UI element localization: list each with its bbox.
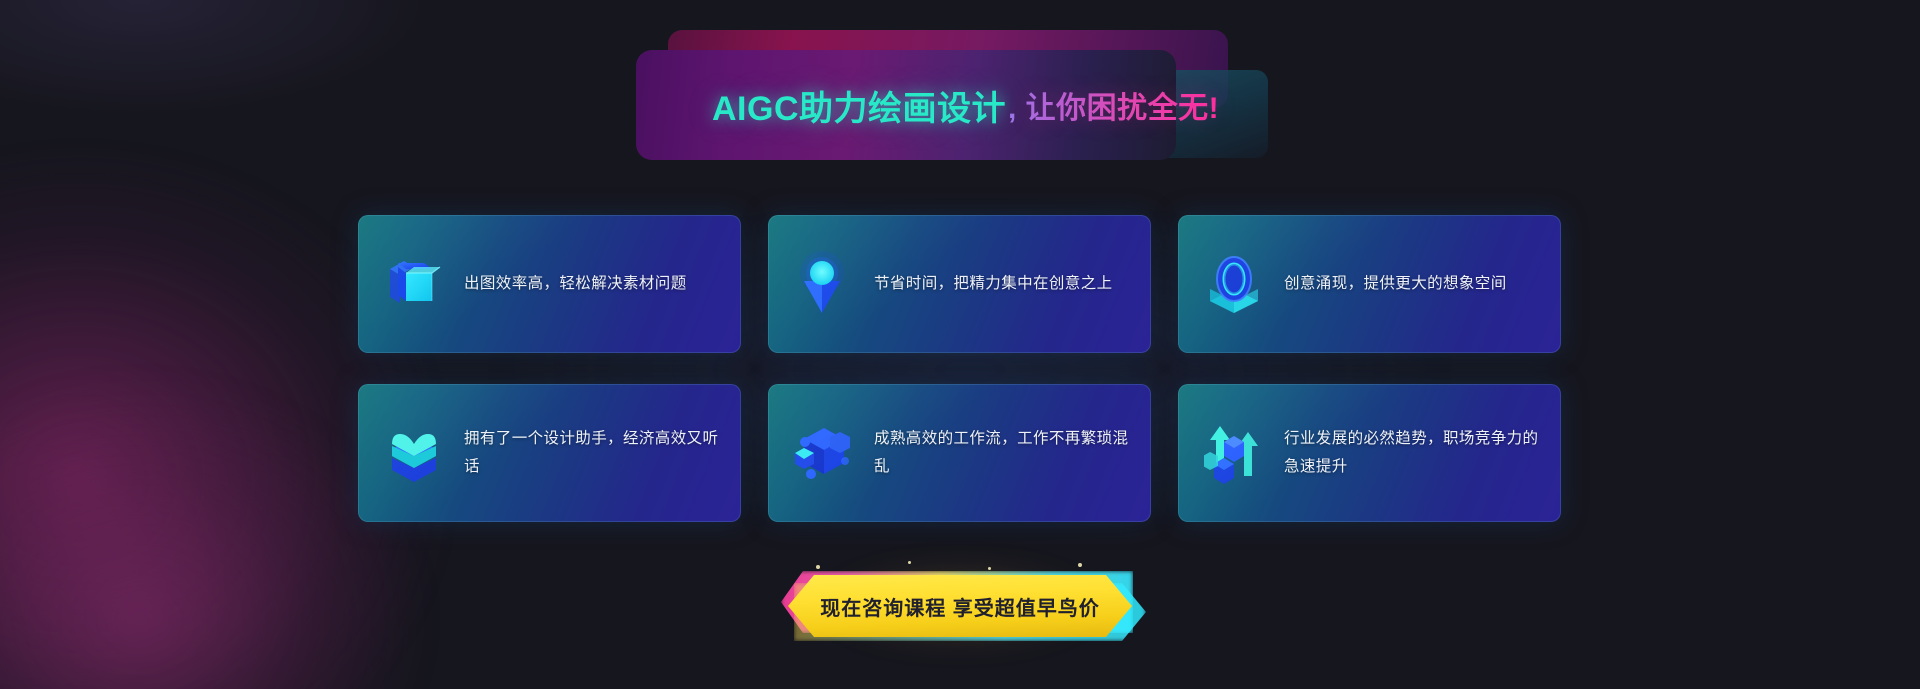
feature-card[interactable]: 节省时间，把精力集中在创意之上 xyxy=(768,215,1151,353)
feature-card[interactable]: 成熟高效的工作流，工作不再繁琐混乱 xyxy=(768,384,1151,522)
location-pin-arrow-icon xyxy=(794,249,856,319)
feature-card-grid: 出图效率高，轻松解决素材问题 节省时间，把精力集中在创意之上 xyxy=(358,215,1563,522)
consult-course-button[interactable]: 现在咨询课程 享受超值早鸟价 xyxy=(788,575,1132,637)
feature-card[interactable]: 出图效率高，轻松解决素材问题 xyxy=(358,215,741,353)
cta-spark xyxy=(816,565,820,569)
cta-section: 现在咨询课程 享受超值早鸟价 xyxy=(0,572,1920,642)
cta-spark xyxy=(908,561,911,564)
page-title: AIGC助力绘画设计 , 让你困扰全无! xyxy=(636,50,1396,160)
page-title-secondary: , 让你困扰全无! xyxy=(1008,83,1219,127)
feature-card-label: 创意涌现，提供更大的想象空间 xyxy=(1284,270,1507,298)
cta-spark xyxy=(988,567,991,570)
hexagon-node-cluster-icon xyxy=(794,418,856,488)
rising-arrows-cubes-icon xyxy=(1204,418,1266,488)
feature-card-label: 拥有了一个设计助手，经济高效又听话 xyxy=(464,425,719,481)
headline-banner: AIGC助力绘画设计 , 让你困扰全无! xyxy=(0,30,1920,150)
stacked-layers-icon xyxy=(384,418,446,488)
feature-card[interactable]: 拥有了一个设计助手，经济高效又听话 xyxy=(358,384,741,522)
isometric-cube-icon xyxy=(384,249,446,319)
feature-card-label: 行业发展的必然趋势，职场竞争力的急速提升 xyxy=(1284,425,1539,481)
torus-ring-on-platform-icon xyxy=(1204,249,1266,319)
cta-spark xyxy=(1078,563,1082,567)
feature-card-label: 成熟高效的工作流，工作不再繁琐混乱 xyxy=(874,425,1129,481)
feature-card-label: 节省时间，把精力集中在创意之上 xyxy=(874,270,1113,298)
feature-card[interactable]: 创意涌现，提供更大的想象空间 xyxy=(1178,215,1561,353)
page-title-primary: AIGC助力绘画设计 xyxy=(712,81,1006,130)
cta-button-wrapper: 现在咨询课程 享受超值早鸟价 xyxy=(788,575,1132,639)
feature-card-label: 出图效率高，轻松解决素材问题 xyxy=(464,270,687,298)
feature-card[interactable]: 行业发展的必然趋势，职场竞争力的急速提升 xyxy=(1178,384,1561,522)
